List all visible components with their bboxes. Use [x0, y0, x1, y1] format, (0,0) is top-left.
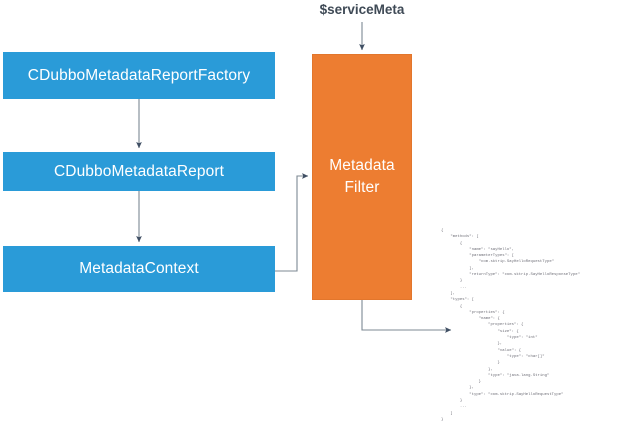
- edge-context-to-filter: [275, 176, 308, 271]
- node-cdubbometadatareport[interactable]: CDubboMetadataReport: [3, 152, 275, 191]
- node-label: CDubboMetadataReport: [54, 163, 224, 181]
- node-cdubbometadatareportfactory[interactable]: CDubboMetadataReportFactory: [3, 52, 275, 99]
- json-output-line: }: [441, 417, 619, 423]
- diagram-canvas: $serviceMeta CDubboMetadataReportFactory…: [0, 0, 620, 432]
- node-label: CDubboMetadataReportFactory: [28, 67, 250, 85]
- node-label-line1: Metadata: [329, 155, 394, 177]
- json-output-code-block: { "methods": [ { "name": "sayHello", "pa…: [441, 228, 619, 423]
- node-label: MetadataContext: [79, 260, 199, 278]
- node-metadata-filter[interactable]: Metadata Filter: [312, 54, 412, 300]
- edge-filter-to-json-output: [362, 300, 451, 330]
- node-metadatacontext[interactable]: MetadataContext: [3, 246, 275, 292]
- node-label-line2: Filter: [344, 177, 379, 199]
